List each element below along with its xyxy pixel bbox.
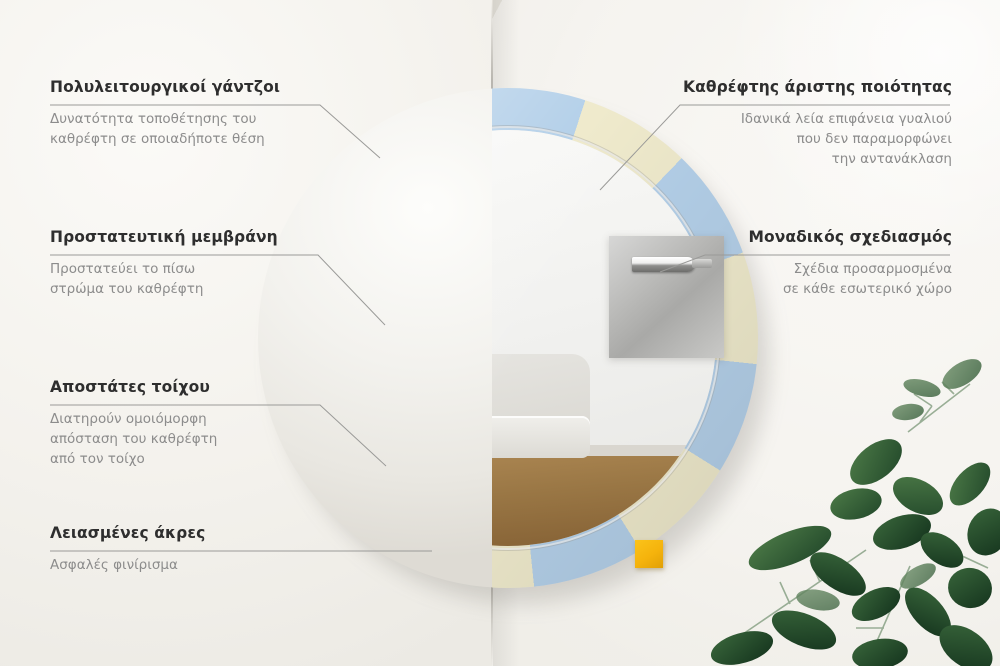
callout-design-title: Μοναδικός σχεδιασμός [748, 228, 952, 246]
callout-quality: Καθρέφτης άριστης ποιότητας Ιδανικά λεία… [683, 78, 952, 169]
callout-quality-description: Ιδανικά λεία επιφάνεια γυαλιού που δεν π… [683, 109, 952, 169]
callout-spacers-title: Αποστάτες τοίχου [50, 378, 217, 396]
callout-edges-title: Λειασμένες άκρες [50, 524, 205, 542]
yellow-spacer [635, 540, 663, 568]
callout-edges-description: Ασφαλές φινίρισμα [50, 555, 205, 575]
callout-design-description: Σχέδια προσαρμοσμένα σε κάθε εσωτερικό χ… [748, 259, 952, 299]
callout-spacers-description: Διατηρούν ομοιόμορφη απόσταση του καθρέφ… [50, 409, 217, 469]
callout-design: Μοναδικός σχεδιασμός Σχέδια προσαρμοσμέν… [748, 228, 952, 299]
callout-edges: Λειασμένες άκρες Ασφαλές φινίρισμα [50, 524, 205, 575]
callout-hooks-title: Πολυλειτουργικοί γάντζοι [50, 78, 280, 96]
callout-membrane: Προστατευτική μεμβράνη Προστατεύει το πί… [50, 228, 278, 299]
callout-spacers: Αποστάτες τοίχου Διατηρούν ομοιόμορφη απ… [50, 378, 217, 469]
hook-slot-icon [632, 257, 695, 272]
callout-membrane-description: Προστατεύει το πίσω στρώμα του καθρέφτη [50, 259, 278, 299]
callout-membrane-title: Προστατευτική μεμβράνη [50, 228, 278, 246]
callout-hooks: Πολυλειτουργικοί γάντζοι Δυνατότητα τοπο… [50, 78, 280, 149]
eucalyptus-leaves-decoration [670, 336, 1000, 666]
infographic-stage: Πολυλειτουργικοί γάντζοι Δυνατότητα τοπο… [0, 0, 1000, 666]
callout-hooks-description: Δυνατότητα τοποθέτησης του καθρέφτη σε ο… [50, 109, 280, 149]
callout-quality-title: Καθρέφτης άριστης ποιότητας [683, 78, 952, 96]
